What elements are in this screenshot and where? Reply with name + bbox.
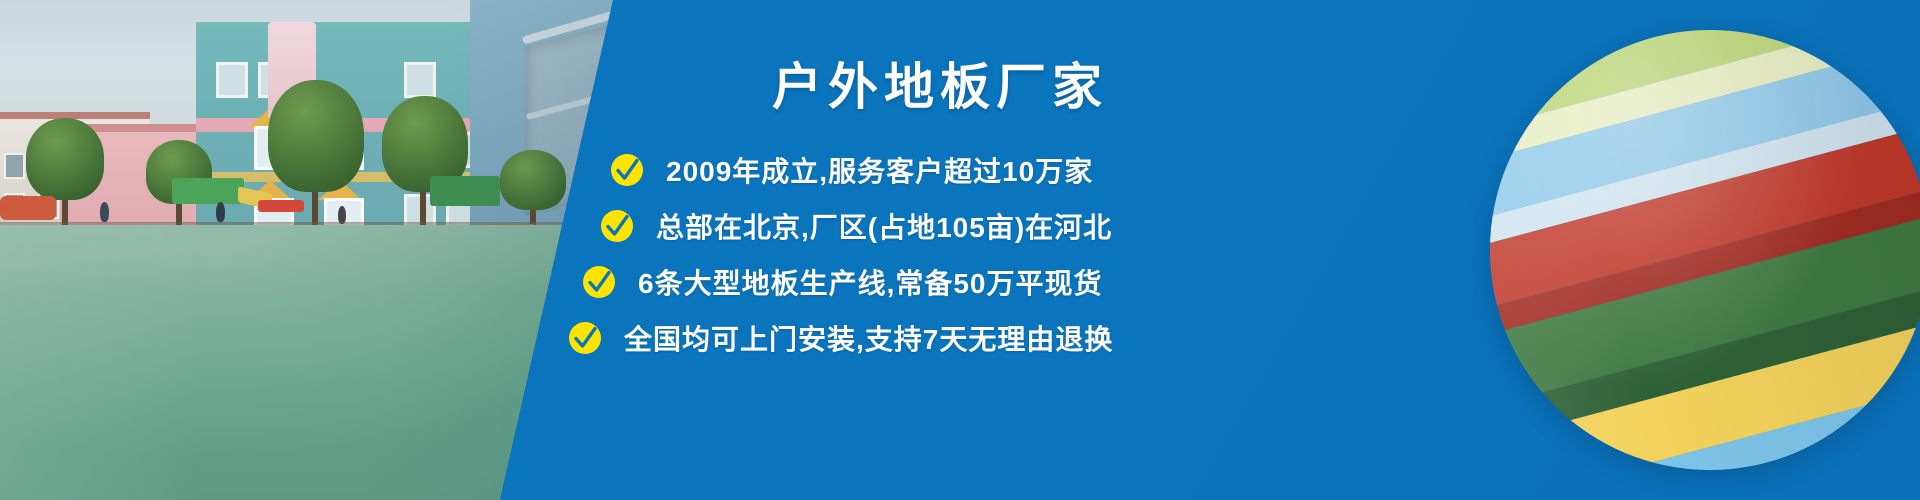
check-circle-icon: [568, 321, 602, 355]
list-item: 2009年成立,服务客户超过10万家: [560, 142, 1320, 198]
list-item-label: 6条大型地板生产线,常备50万平现货: [638, 262, 1103, 302]
feature-list: 2009年成立,服务客户超过10万家 总部在北京,厂区(占地105亩)在河北: [560, 142, 1320, 366]
check-circle-icon: [600, 209, 634, 243]
check-circle-icon: [610, 153, 644, 187]
check-circle-icon: [582, 265, 616, 299]
banner-content: 户外地板厂家 2009年成立,服务客户超过10万家: [560, 0, 1320, 500]
list-item-label: 总部在北京,厂区(占地105亩)在河北: [656, 206, 1112, 246]
banner-title: 户外地板厂家: [560, 62, 1320, 112]
floor-color-samples-photo: [1490, 30, 1920, 470]
swatch-gloss-overlay: [1490, 30, 1920, 470]
list-item-label: 2009年成立,服务客户超过10万家: [666, 150, 1093, 190]
list-item: 全国均可上门安装,支持7天无理由退换: [560, 310, 1320, 366]
list-item: 总部在北京,厂区(占地105亩)在河北: [560, 198, 1320, 254]
promotional-banner: 户外地板厂家 2009年成立,服务客户超过10万家: [0, 0, 1920, 500]
list-item: 6条大型地板生产线,常备50万平现货: [560, 254, 1320, 310]
list-item-label: 全国均可上门安装,支持7天无理由退换: [624, 318, 1113, 358]
